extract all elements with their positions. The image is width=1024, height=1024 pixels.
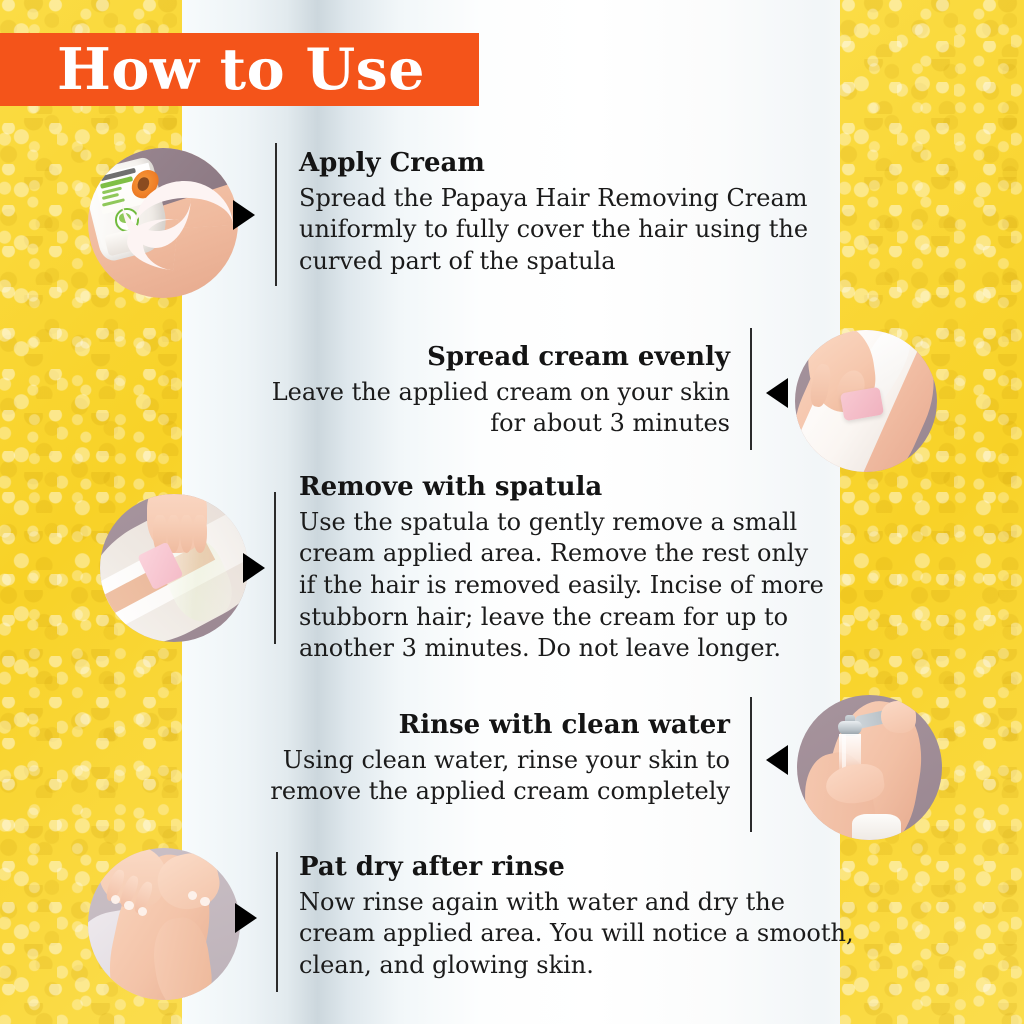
page-title: How to Use [0, 41, 425, 98]
photo-content [795, 330, 937, 472]
step-1-divider [275, 143, 277, 286]
step-2-arrow-left-icon [766, 378, 788, 408]
step-1-arrow-right-icon [233, 200, 255, 230]
photo-content [88, 848, 240, 1000]
step-3-photo-spatula-removing-cream [100, 494, 248, 642]
step-3-arrow-right-icon [243, 553, 265, 583]
step-2-body: Leave the applied cream on your skin for… [230, 377, 730, 440]
step-4-photo-shower-rinsing-leg [797, 695, 942, 840]
step-4-body: Using clean water, rinse your skin to re… [230, 745, 730, 808]
photo-content [797, 695, 942, 840]
step-5-photo-hands-on-smooth-leg [88, 848, 240, 1000]
step-3-body: Use the spatula to gently remove a small… [299, 507, 839, 665]
step-5-divider [276, 852, 278, 992]
step-3: Remove with spatula Use the spatula to g… [299, 472, 839, 665]
step-4-title: Rinse with clean water [230, 710, 730, 742]
step-2: Spread cream evenly Leave the applied cr… [230, 342, 730, 440]
step-5-title: Pat dry after rinse [299, 852, 859, 884]
step-1-body: Spread the Papaya Hair Removing Cream un… [299, 183, 829, 278]
step-1-photo-cream-tube-squeeze [88, 148, 238, 298]
step-3-divider [274, 492, 276, 644]
step-2-title: Spread cream evenly [230, 342, 730, 374]
photo-content [88, 148, 238, 298]
step-3-title: Remove with spatula [299, 472, 839, 504]
step-2-divider [750, 328, 752, 450]
photo-content [100, 494, 248, 642]
page-title-banner: How to Use [0, 33, 479, 106]
step-2-photo-spatula-spreading-cream [795, 330, 937, 472]
step-1: Apply Cream Spread the Papaya Hair Remov… [299, 148, 829, 278]
step-4: Rinse with clean water Using clean water… [230, 710, 730, 808]
step-5-body: Now rinse again with water and dry the c… [299, 887, 859, 982]
step-5-arrow-right-icon [235, 903, 257, 933]
infographic-canvas: How to Use Apply Cream Spread the Papaya… [0, 0, 1024, 1024]
step-5: Pat dry after rinse Now rinse again with… [299, 852, 859, 982]
step-1-title: Apply Cream [299, 148, 829, 180]
background-yellow-right-panel [840, 0, 1024, 1024]
step-4-arrow-left-icon [766, 745, 788, 775]
step-4-divider [750, 697, 752, 832]
